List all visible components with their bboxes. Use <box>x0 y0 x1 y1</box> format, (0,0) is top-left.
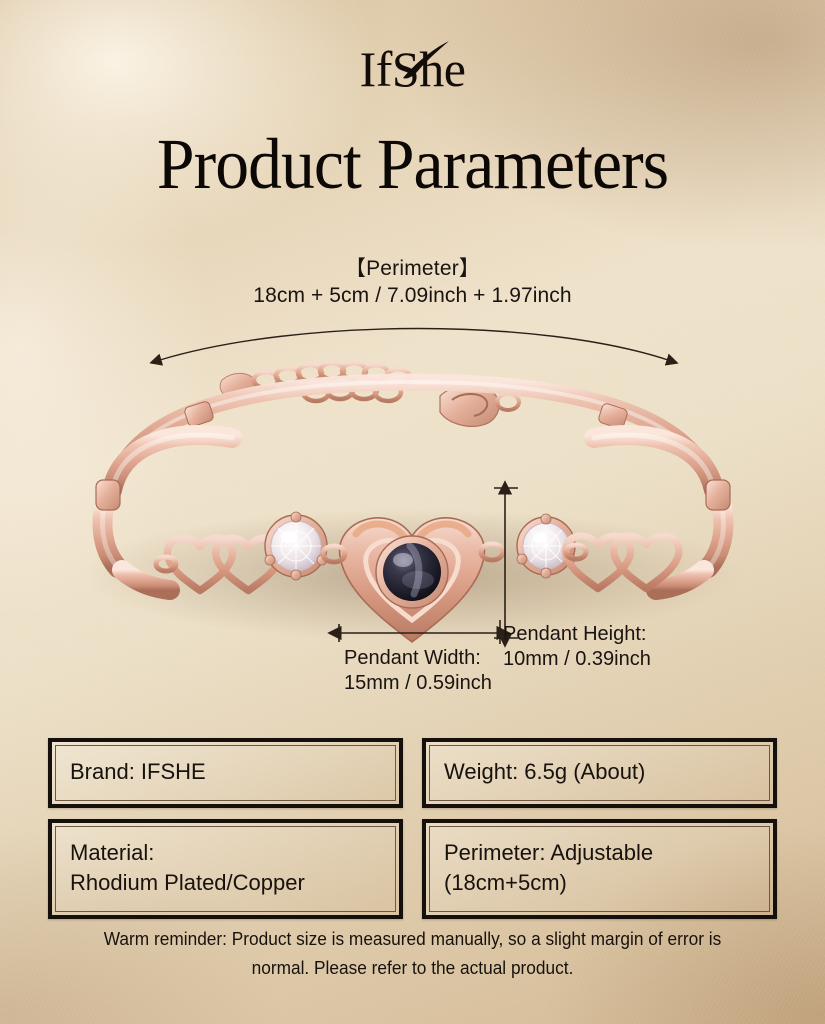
spec-box-brand: Brand: IFSHE <box>48 738 403 808</box>
warm-reminder-text: Warm reminder: Product size is measured … <box>74 925 751 983</box>
product-parameters-page: IfShe Product Parameters 【Perimeter】 18c… <box>0 0 825 1024</box>
specs-grid: Brand: IFSHE Weight: 6.5g (About) Materi… <box>48 738 777 919</box>
brand-logo: IfShe <box>0 44 825 94</box>
perimeter-caption-title: 【Perimeter】 <box>0 255 825 282</box>
brand-logo-text: IfShe <box>360 41 466 97</box>
pendant-height-label: Pendant Height: 10mm / 0.39inch <box>503 622 651 672</box>
spec-material-text: Material: Rhodium Plated/Copper <box>70 838 305 898</box>
page-title: Product Parameters <box>25 128 801 200</box>
pendant-width-label: Pendant Width: 15mm / 0.59inch <box>344 646 492 696</box>
spec-box-weight: Weight: 6.5g (About) <box>422 738 777 808</box>
spec-box-material: Material: Rhodium Plated/Copper <box>48 819 403 919</box>
spec-perimeter-text: Perimeter: Adjustable (18cm+5cm) <box>444 838 653 898</box>
spec-brand-text: Brand: IFSHE <box>70 757 206 787</box>
perimeter-caption: 【Perimeter】 18cm + 5cm / 7.09inch + 1.97… <box>0 255 825 309</box>
spec-weight-text: Weight: 6.5g (About) <box>444 757 645 787</box>
perimeter-caption-value: 18cm + 5cm / 7.09inch + 1.97inch <box>0 282 825 309</box>
spec-box-perimeter: Perimeter: Adjustable (18cm+5cm) <box>422 819 777 919</box>
